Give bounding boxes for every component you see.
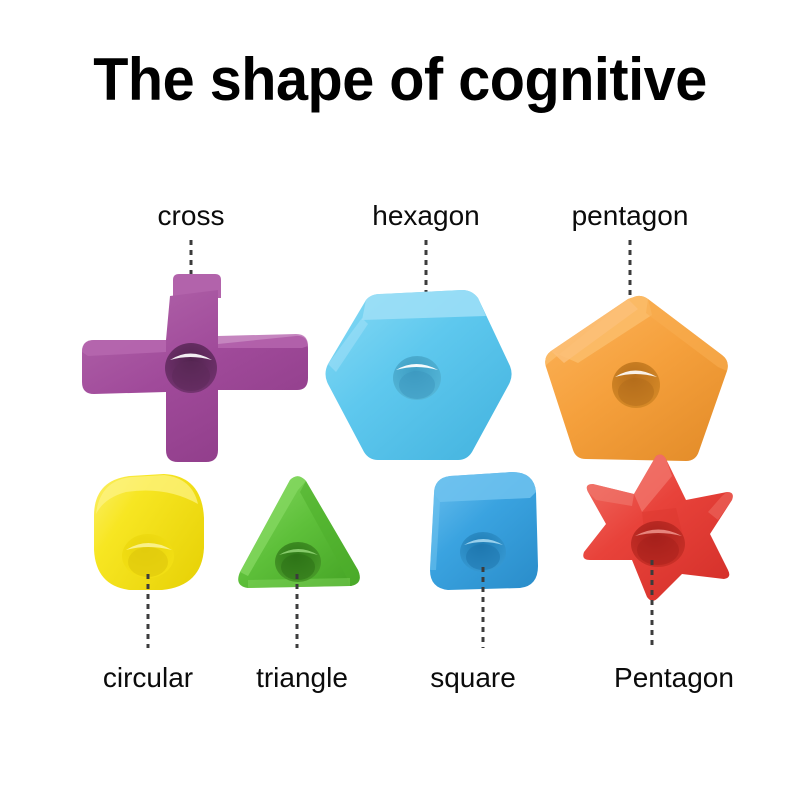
page-title: The shape of cognitive bbox=[16, 46, 784, 114]
label-pentagon: pentagon bbox=[572, 200, 689, 232]
shape-pentagon[interactable] bbox=[542, 293, 732, 465]
leader-line-triangle bbox=[296, 574, 299, 648]
label-circular: circular bbox=[103, 662, 193, 694]
leader-line-star bbox=[651, 560, 654, 648]
shape-triangle[interactable] bbox=[234, 472, 364, 594]
leader-line-circular bbox=[147, 574, 150, 648]
label-cross: cross bbox=[158, 200, 225, 232]
shape-cross[interactable] bbox=[78, 272, 314, 468]
poster-canvas: The shape of cognitive cross hexagon pen… bbox=[0, 0, 800, 800]
leader-line-square bbox=[482, 567, 485, 648]
shape-hexagon[interactable] bbox=[322, 288, 516, 464]
label-star: Pentagon bbox=[614, 662, 734, 694]
label-hexagon: hexagon bbox=[372, 200, 479, 232]
label-square: square bbox=[430, 662, 516, 694]
label-triangle: triangle bbox=[256, 662, 348, 694]
